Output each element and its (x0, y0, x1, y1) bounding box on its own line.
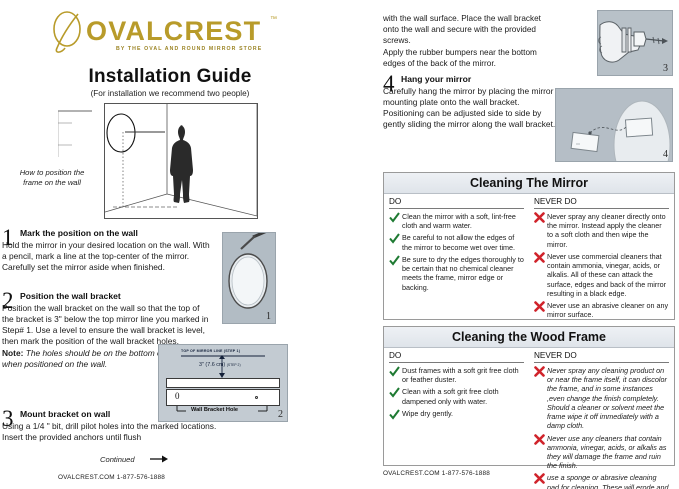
panel-mirror-header: Cleaning The Mirror (384, 173, 674, 194)
bracket-body-bar (166, 389, 280, 406)
footer-left: OVALCREST.COM 1-877-576-1888 (58, 474, 165, 481)
never-item-text: Never use any cleaners that contain ammo… (547, 434, 669, 471)
red-x-icon (534, 434, 547, 471)
do-item-text: Be careful to not allow the edges of the… (402, 233, 524, 251)
do-item: Be sure to dry the edges thoroughly to b… (389, 255, 524, 292)
panel-mirror-do-header: DO (389, 197, 524, 209)
caption-line-1: How to position the (20, 168, 85, 177)
mirror-height-guides-icon (58, 105, 106, 165)
caption-line-2: frame on the wall (23, 178, 81, 187)
footer-right: OVALCREST.COM 1-877-576-1888 (383, 470, 490, 477)
do-item-text: Be sure to dry the edges thoroughly to b… (402, 255, 524, 292)
step-3-body: Using a 1/4 " bit, drill pilot holes int… (2, 421, 230, 443)
mirror-mounting-plate-onto-bracket-photo (556, 89, 672, 161)
green-check-icon (389, 233, 402, 251)
hand-drilling-pilot-hole-photo (598, 11, 672, 75)
never-item: Never spray any cleaner directly onto th… (534, 212, 669, 249)
step-2-number: 2 (2, 291, 14, 312)
continuation-paragraph-1: with the wall surface. Place the wall br… (383, 14, 555, 47)
red-x-icon (534, 252, 547, 298)
step-1-number: 1 (2, 228, 14, 249)
bracket-hole-label: Wall Bracket Hole (191, 407, 238, 413)
room-diagram (104, 103, 258, 219)
step-1: 1 Mark the position on the wall Hold the… (2, 228, 210, 273)
installation-guide-page: OVALCREST ™ BY THE OVAL AND ROUND MIRROR… (0, 0, 679, 489)
panel-frame-never-header: NEVER DO (534, 351, 669, 363)
photo-tile-1: 1 (222, 232, 276, 324)
never-item-text: Never use an abrasive cleaner on any mir… (547, 301, 669, 319)
red-x-icon (534, 301, 547, 319)
never-item-text: Never spray any cleaner directly onto th… (547, 212, 669, 249)
do-item-text: Clean with a soft grit free cloth dampen… (402, 387, 524, 405)
arrow-right-icon (150, 454, 168, 464)
panel-frame-title: Cleaning the Wood Frame (452, 330, 606, 344)
bracket-hole-dot-icon (255, 396, 258, 399)
photo-tile-3-number: 3 (663, 63, 668, 74)
step-2-heading: Position the wall bracket (20, 291, 210, 302)
do-item: Clean with a soft grit free cloth dampen… (389, 387, 524, 405)
brand-tagline: BY THE OVAL AND ROUND MIRROR STORE (116, 46, 262, 52)
do-item: Wipe dry gently. (389, 409, 524, 420)
panel-mirror-do-column: DO Clean the mirror with a soft, lint-fr… (384, 197, 529, 322)
never-item-text: use a sponge or abrasive cleaning pad fo… (547, 473, 669, 489)
panel-frame-never-column: NEVER DO Never spray any cleaning produc… (529, 351, 674, 489)
continuation-paragraph-2: Apply the rubber bumpers near the bottom… (383, 48, 555, 70)
green-check-icon (389, 366, 402, 384)
photo-tile-4: 4 (555, 88, 673, 162)
bracket-dimension: 3" (7.6 cm) (STEP 2) (199, 362, 241, 368)
do-item: Clean the mirror with a soft, lint-free … (389, 212, 524, 230)
diagram-caption: How to position the frame on the wall (4, 168, 100, 189)
red-x-icon (534, 473, 547, 489)
step-1-heading: Mark the position on the wall (20, 228, 210, 239)
bracket-dimension-value: 3" (7.6 cm) (199, 362, 225, 368)
never-item-text: Never use commercial cleaners that conta… (547, 252, 669, 298)
photo-tile-2-number: 2 (278, 409, 283, 420)
step-4: 4 Hang your mirror Carefully hang the mi… (383, 74, 559, 130)
red-x-icon (534, 212, 547, 249)
photo-tile-4-number: 4 (663, 149, 668, 160)
panel-mirror-columns: DO Clean the mirror with a soft, lint-fr… (384, 194, 674, 322)
do-item: Be careful to not allow the edges of the… (389, 233, 524, 251)
panel-frame-do-column: DO Dust frames with a soft grit free clo… (384, 351, 529, 489)
panel-mirror-never-column: NEVER DO Never spray any cleaner directl… (529, 197, 674, 322)
never-item: Never use commercial cleaners that conta… (534, 252, 669, 298)
bracket-top-bar (166, 378, 280, 388)
step-1-body: Hold the mirror in your desired location… (2, 240, 210, 273)
panel-frame-do-header: DO (389, 351, 524, 363)
green-check-icon (389, 212, 402, 230)
photo-tile-2: TOP OF MIRROR LINE (STEP 1) 3" (7.6 cm) … (158, 344, 288, 422)
never-item: Never use any cleaners that contain ammo… (534, 434, 669, 471)
step-4-number: 4 (383, 74, 395, 95)
room-perspective-svg (105, 104, 257, 218)
do-item: Dust frames with a soft grit free cloth … (389, 366, 524, 384)
left-column: OVALCREST ™ BY THE OVAL AND ROUND MIRROR… (0, 0, 372, 489)
bracket-dimension-step: (STEP 2) (227, 363, 241, 367)
panel-cleaning-mirror: Cleaning The Mirror DO Clean the mirror … (383, 172, 675, 320)
red-x-icon (534, 366, 547, 431)
trademark-symbol: ™ (270, 16, 277, 23)
oval-mirror-with-pencil-photo (223, 233, 275, 323)
step-2-body: Position the wall bracket on the wall so… (2, 303, 210, 347)
green-check-icon (389, 255, 402, 292)
never-item-text: Never spray any cleaning product on or n… (547, 366, 669, 431)
green-check-icon (389, 387, 402, 405)
page-subtitle: (For installation we recommend two peopl… (0, 89, 340, 98)
brand-logo: OVALCREST ™ BY THE OVAL AND ROUND MIRROR… (38, 8, 288, 56)
never-item: use a sponge or abrasive cleaning pad fo… (534, 473, 669, 489)
panel-frame-header: Cleaning the Wood Frame (384, 327, 674, 348)
page-title: Installation Guide (0, 66, 340, 88)
step-4-heading: Hang your mirror (401, 74, 559, 85)
photo-tile-3: 3 (597, 10, 673, 76)
brand-wordmark: OVALCREST (86, 16, 261, 47)
never-item: Never spray any cleaning product on or n… (534, 366, 669, 431)
do-item-text: Clean the mirror with a soft, lint-free … (402, 212, 524, 230)
step-2-note-label: Note: (2, 348, 23, 358)
never-item: Never use an abrasive cleaner on any mir… (534, 301, 669, 319)
green-check-icon (389, 409, 402, 420)
continued-label: Continued (100, 455, 135, 464)
step-4-body: Carefully hang the mirror by placing the… (383, 86, 559, 130)
bracket-hole-zero: 0 (175, 391, 180, 401)
do-item-text: Dust frames with a soft grit free cloth … (402, 366, 524, 384)
step-3-number: 3 (2, 409, 14, 430)
panel-frame-columns: DO Dust frames with a soft grit free clo… (384, 348, 674, 489)
photo-tile-1-number: 1 (266, 311, 271, 322)
do-item-text: Wipe dry gently. (402, 409, 453, 420)
panel-cleaning-wood-frame: Cleaning the Wood Frame DO Dust frames w… (383, 326, 675, 466)
panel-mirror-title: Cleaning The Mirror (470, 176, 588, 190)
panel-mirror-never-header: NEVER DO (534, 197, 669, 209)
